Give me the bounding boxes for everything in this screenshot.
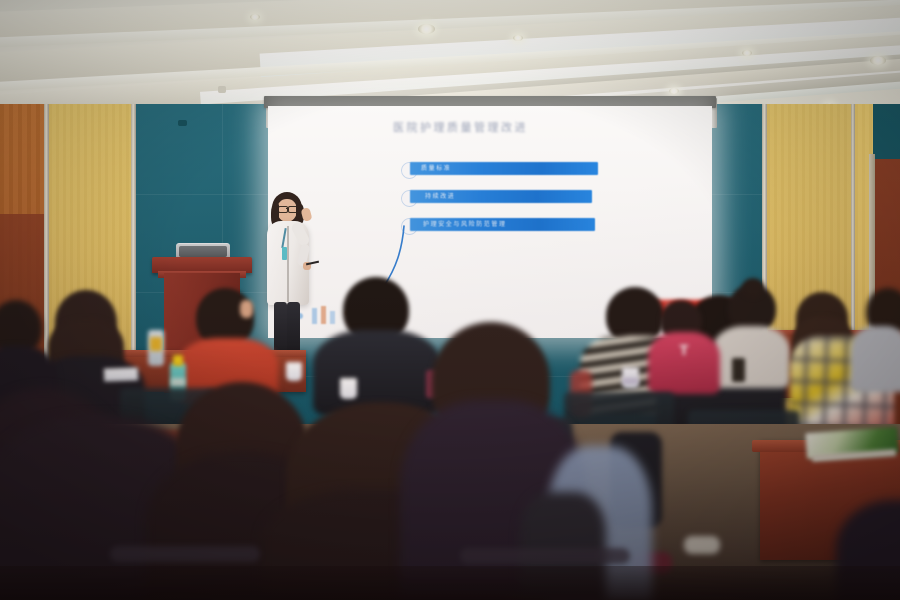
slide-bar-label: 质量标准 [421, 163, 451, 172]
attendee-body [850, 326, 900, 392]
slide-bar-label: 持续改进 [425, 191, 455, 200]
badge-icon [282, 247, 287, 260]
wall-fixture-icon [178, 120, 187, 126]
cup-print [623, 378, 638, 384]
bottle-label [150, 337, 162, 351]
attendee-body [712, 326, 790, 388]
downlight-icon [870, 56, 886, 65]
attendee-ear [240, 300, 253, 318]
lecture-hall-photo: 医院护理质量管理改进 质量标准 持续改进 护理安全与风险防范管理 [0, 0, 900, 600]
chair-back-edge [460, 548, 630, 564]
tshirt-print-letter: T [676, 343, 692, 359]
bottle-cap [173, 355, 183, 366]
laptop-screen [179, 246, 227, 257]
downlight-icon [418, 24, 435, 34]
presenter[interactable] [258, 192, 324, 360]
downlight-icon [513, 35, 523, 41]
ceiling-sensor-icon [218, 86, 226, 93]
bottle-label [171, 378, 185, 387]
chair-back-edge [110, 546, 260, 562]
attendee-hair-bun [742, 278, 764, 298]
shoe [684, 536, 720, 554]
paper-cup [286, 362, 302, 381]
paper-cup [340, 378, 357, 399]
coat-placket [287, 226, 289, 302]
downlight-icon [742, 50, 752, 56]
downlight-icon [669, 88, 679, 94]
paper-sheet [104, 367, 138, 381]
slide-bullet-row: 持续改进 [399, 188, 605, 205]
slide-title: 医院护理质量管理改进 [393, 119, 528, 135]
glasses-bridge-icon [286, 208, 288, 209]
downlight-icon [250, 14, 260, 20]
foreground-shadow [0, 566, 900, 600]
slide-bullet-row: 质量标准 [399, 160, 609, 177]
small-bottle [732, 358, 745, 382]
